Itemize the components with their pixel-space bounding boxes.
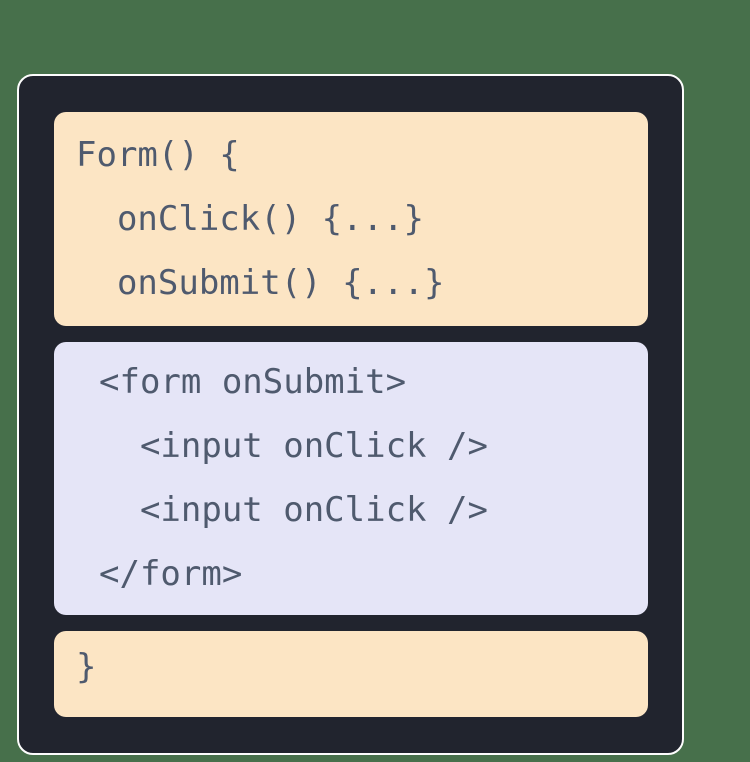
- code-line: <input onClick />: [99, 414, 626, 478]
- code-line: }: [76, 635, 626, 699]
- code-line: <form onSubmit>: [99, 350, 626, 414]
- code-block-handlers: Form() { onClick() {...} onSubmit() {...…: [54, 112, 648, 326]
- code-line: </form>: [99, 542, 626, 606]
- diagram-canvas: Form() { onClick() {...} onSubmit() {...…: [0, 0, 750, 762]
- code-block-markup: <form onSubmit> <input onClick /> <input…: [54, 342, 648, 615]
- code-line: onClick() {...}: [76, 187, 626, 251]
- code-line: Form() {: [76, 123, 626, 187]
- code-line: onSubmit() {...}: [76, 251, 626, 315]
- code-block-closing-brace: }: [54, 631, 648, 717]
- code-card: Form() { onClick() {...} onSubmit() {...…: [17, 74, 684, 755]
- code-line: <input onClick />: [99, 478, 626, 542]
